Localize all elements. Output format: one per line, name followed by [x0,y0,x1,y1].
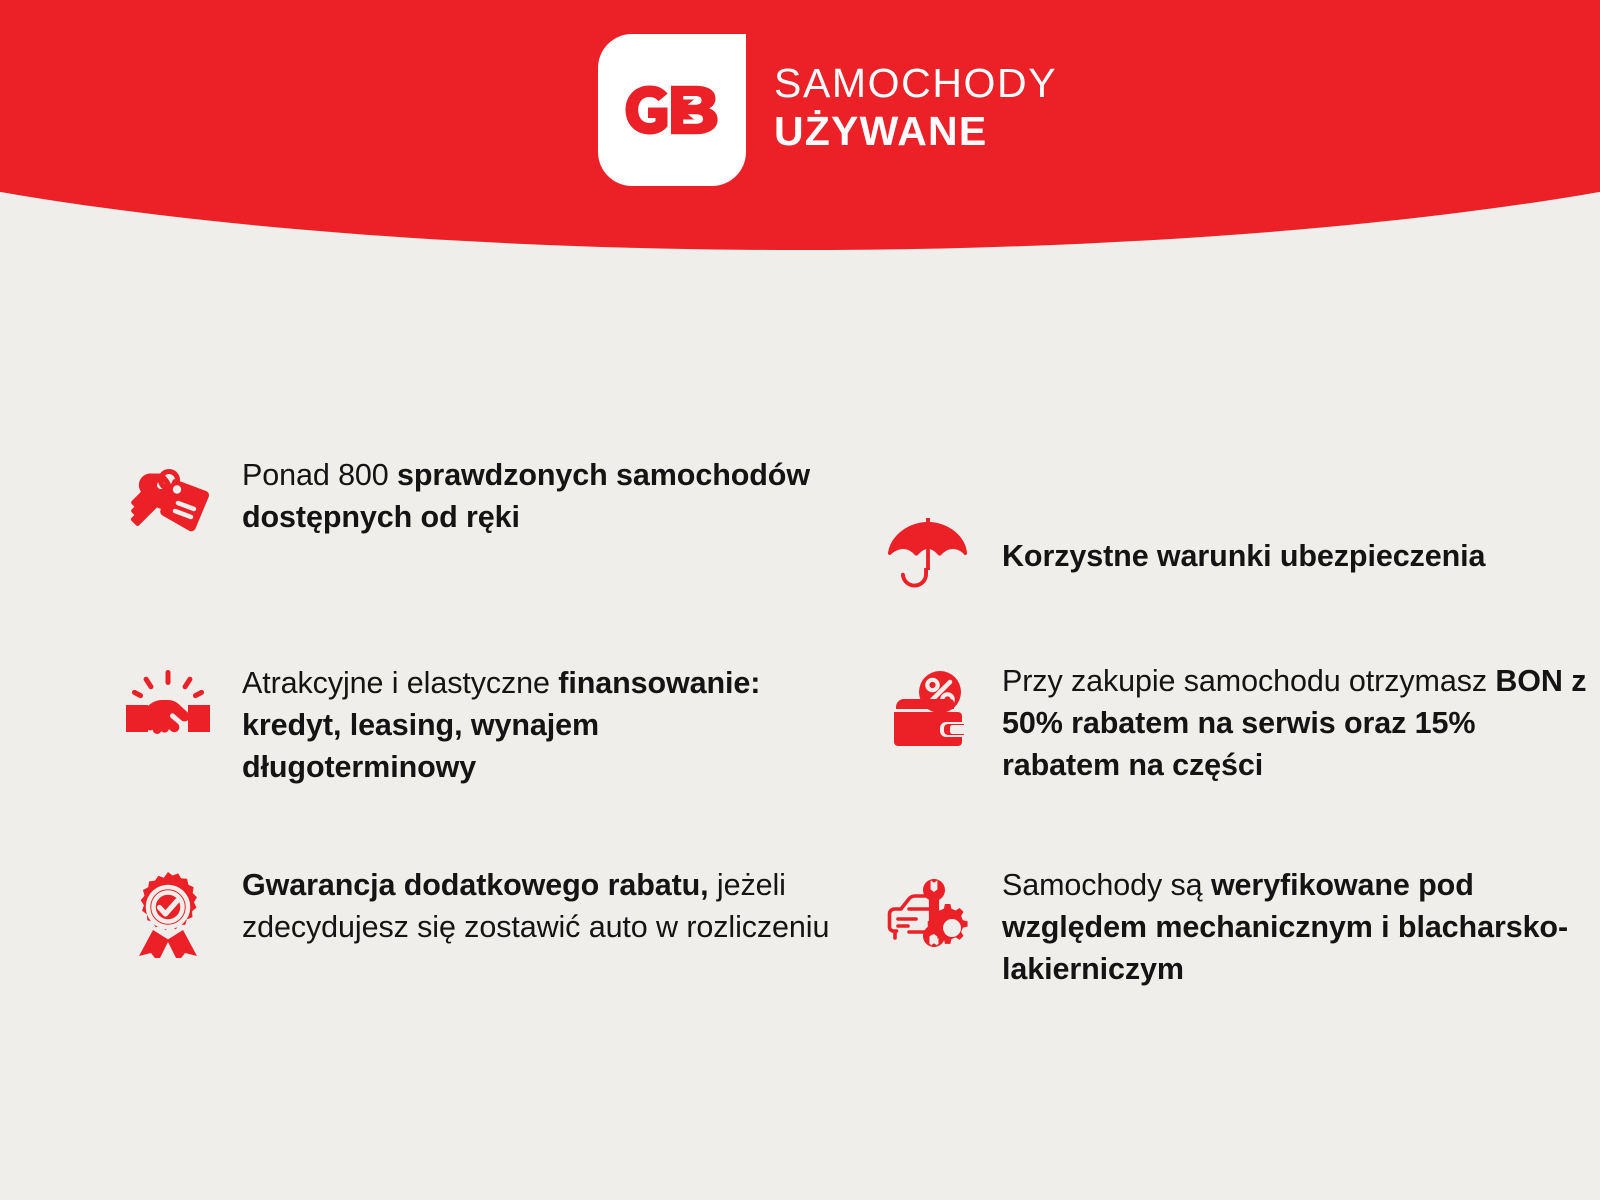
benefit-item-guarantee: Gwarancja dodatkowego rabatu, jeżeli zde… [120,858,840,1060]
gb-monogram-icon [624,85,720,135]
benefit-text-verification: Samochody są weryfikowane pod względem m… [1002,864,1600,990]
umbrella-icon [880,508,976,604]
benefit-text-bold: Korzystne warunki ubezpieczenia [1002,539,1485,573]
brand-line-1: SAMOCHODY [774,63,1057,104]
benefit-text-regular: Ponad 800 [242,458,397,492]
benefit-text-guarantee: Gwarancja dodatkowego rabatu, jeżeli zde… [242,864,840,948]
benefit-item-inventory: Ponad 800 sprawdzonych samochodów dostęp… [120,440,840,650]
benefit-text-inventory: Ponad 800 sprawdzonych samochodów dostęp… [242,454,840,538]
benefit-text-bold: Gwarancja dodatkowego rabatu, [242,868,709,902]
brand-line-2: UŻYWANE [774,111,1057,152]
benefit-text-voucher: Przy zakupie samochodu otrzymasz BON z 5… [1002,660,1600,786]
benefit-item-voucher: Przy zakupie samochodu otrzymasz BON z 5… [880,654,1600,856]
benefit-item-insurance: Korzystne warunki ubezpieczenia [880,440,1600,654]
gb-logo-mark [598,34,746,186]
benefits-grid: Ponad 800 sprawdzonych samochodów dostęp… [0,440,1600,1060]
award-badge-check-icon [120,864,216,960]
benefit-text-insurance: Korzystne warunki ubezpieczenia [1002,535,1485,577]
benefit-text-regular: Przy zakupie samochodu otrzymasz [1002,664,1495,698]
handshake-icon [120,662,216,758]
key-tag-icon [120,454,216,550]
benefit-text-financing: Atrakcyjne i elastyczne finansowanie: kr… [242,662,840,788]
benefit-text-regular: Atrakcyjne i elastyczne [242,666,558,700]
brand-wordmark: SAMOCHODY UŻYWANE [774,63,1057,158]
wallet-percent-icon [880,660,976,756]
benefit-item-financing: Atrakcyjne i elastyczne finansowanie: kr… [120,654,840,858]
car-wrench-gear-icon [880,864,976,960]
benefit-text-regular: Samochody są [1002,868,1211,902]
benefit-item-verification: Samochody są weryfikowane pod względem m… [880,858,1600,1060]
brand-logo-lockup[interactable]: SAMOCHODY UŻYWANE [598,34,1057,186]
